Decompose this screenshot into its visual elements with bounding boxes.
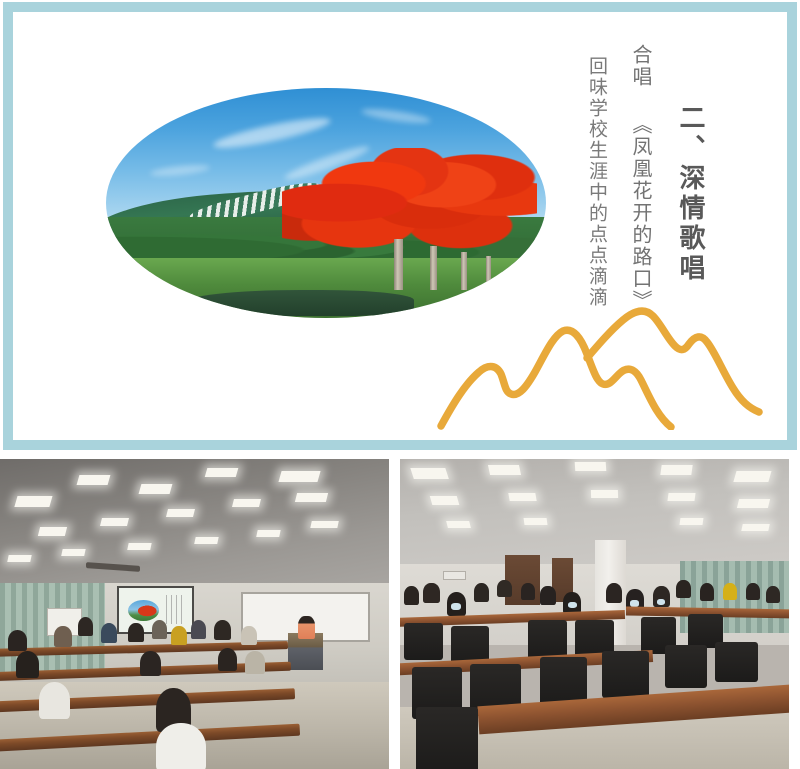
seat-back <box>602 651 649 698</box>
tree-trunk <box>394 239 403 290</box>
classroom-lecture-photo <box>0 459 389 769</box>
face-mask-icon <box>451 603 460 610</box>
ceiling-light <box>256 530 281 537</box>
audience-person <box>540 586 556 605</box>
ceiling-light <box>128 543 153 550</box>
seat-back <box>665 645 708 688</box>
student-person <box>191 620 207 639</box>
audience-person <box>474 583 490 602</box>
audience-person <box>404 586 420 605</box>
ceiling-light <box>295 493 328 502</box>
pond-water <box>185 290 414 315</box>
ceiling-light <box>194 537 219 544</box>
ceiling-light <box>680 518 704 525</box>
audience-seated-photo <box>400 459 789 769</box>
ceiling-light <box>508 493 537 501</box>
speaker-person <box>298 616 316 639</box>
ceiling-light <box>76 475 110 485</box>
audience-person <box>676 580 691 598</box>
audience-person <box>766 586 780 603</box>
student-person <box>101 623 117 642</box>
ceiling-light <box>14 496 52 507</box>
ceiling-light <box>737 499 770 508</box>
face-mask-icon <box>568 602 577 608</box>
ceiling-light <box>733 471 771 482</box>
student-person <box>171 626 187 645</box>
screen-vertical-text <box>166 595 185 624</box>
ceiling-light <box>7 555 32 562</box>
student-person <box>140 651 161 676</box>
seat-back <box>416 707 478 769</box>
slide-content-area: 回味学校生涯中的点点滴滴 合唱 《凤凰花开的路口》 二、深情歌唱 <box>13 12 787 440</box>
tree-trunk <box>430 246 437 290</box>
audience-person <box>746 583 760 600</box>
ceiling-light <box>139 484 173 494</box>
audience-person <box>521 583 535 600</box>
wall-notice-sign <box>443 571 466 580</box>
student-person <box>214 620 231 640</box>
ceiling-light <box>575 462 607 471</box>
seat-back <box>404 623 443 660</box>
student-person <box>128 623 144 642</box>
student-person <box>218 648 237 671</box>
ceiling-light <box>166 509 195 517</box>
ceiling-light <box>668 493 696 501</box>
tree-trunk <box>486 256 491 290</box>
slide-detail-text: 回味学校生涯中的点点滴滴 <box>584 56 611 308</box>
ceiling-light <box>660 465 693 475</box>
ceiling-light <box>38 527 67 536</box>
ceiling-light <box>524 518 548 525</box>
golden-mountain-brush <box>431 300 781 430</box>
ceiling-light <box>590 490 617 498</box>
campus-flame-tree-photo <box>106 88 546 318</box>
audience-person <box>497 580 512 597</box>
photo-row <box>0 459 800 769</box>
audience-person <box>723 583 737 600</box>
audience-person <box>423 583 439 603</box>
student-person <box>39 682 70 719</box>
seat-back <box>715 642 758 682</box>
slide-song-text: 合唱 《凤凰花开的路口》 <box>627 44 656 312</box>
student-person <box>152 620 168 639</box>
ceiling-light <box>430 496 460 505</box>
ceiling-light <box>310 521 339 528</box>
ceiling-light <box>232 499 261 507</box>
student-person <box>241 626 257 645</box>
student-person <box>16 651 39 677</box>
flame-tree <box>282 148 537 291</box>
ceiling-light <box>278 471 320 482</box>
audience-person <box>700 583 715 601</box>
slide-page: 回味学校生涯中的点点滴滴 合唱 《凤凰花开的路口》 二、深情歌唱 <box>0 0 800 769</box>
student-person <box>156 723 207 769</box>
vertical-text-group: 回味学校生涯中的点点滴滴 合唱 《凤凰花开的路口》 二、深情歌唱 <box>584 32 709 312</box>
screen-oval-image <box>128 600 159 621</box>
student-person <box>245 651 264 673</box>
slide-panel: 回味学校生涯中的点点滴滴 合唱 《凤凰花开的路口》 二、深情歌唱 <box>3 2 797 450</box>
ceiling-light <box>62 549 87 556</box>
ceiling-light <box>205 468 239 477</box>
audience-person <box>606 583 622 603</box>
flame-tree-canopy <box>282 148 537 254</box>
ceiling-light <box>446 521 471 528</box>
ceiling-light <box>742 524 771 531</box>
ceiling-light <box>410 468 448 479</box>
ceiling-light <box>488 465 521 475</box>
student-person <box>78 617 94 636</box>
tree-trunk <box>461 252 467 291</box>
ceiling-light <box>100 518 129 526</box>
face-mask-icon <box>657 599 665 605</box>
slide-heading: 二、深情歌唱 <box>672 104 709 284</box>
student-person <box>54 626 72 646</box>
student-person <box>8 630 27 652</box>
